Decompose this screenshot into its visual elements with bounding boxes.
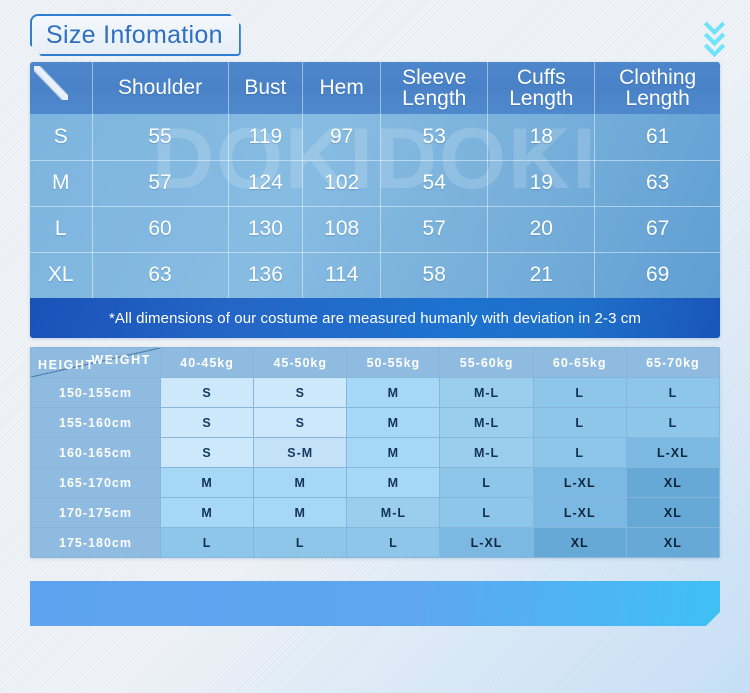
- fit-table-header-row: WEIGHT HEIGHT 40-45kg45-50kg50-55kg55-60…: [31, 348, 720, 378]
- measurement-cell: 60: [92, 206, 228, 252]
- recommended-size-cell: XL: [626, 528, 719, 558]
- page-title-badge: Size Infomation: [30, 14, 241, 56]
- recommended-size-cell: L-XL: [533, 468, 626, 498]
- recommended-size-cell: S: [161, 378, 254, 408]
- table-header-row: Shoulder Bust Hem Sleeve Length Cuffs Le…: [30, 62, 720, 114]
- measurement-cell: 130: [228, 206, 303, 252]
- column-header-hem: Hem: [303, 62, 381, 114]
- column-header-clothing-line1: Clothing: [619, 66, 696, 89]
- column-header-shoulder: Shoulder: [92, 62, 228, 114]
- recommended-size-cell: L: [440, 468, 533, 498]
- height-row-header: 150-155cm: [31, 378, 161, 408]
- size-label-cell: S: [30, 114, 92, 160]
- column-header-cuffs-line1: Cuffs: [517, 66, 566, 89]
- size-label-cell: XL: [30, 252, 92, 298]
- table-row: S5511997531861: [30, 114, 720, 160]
- weight-column-header: 60-65kg: [533, 348, 626, 378]
- recommended-size-cell: L: [440, 498, 533, 528]
- weight-column-header: 65-70kg: [626, 348, 719, 378]
- column-header-clothing-line2: Length: [626, 87, 690, 110]
- measurement-cell: 97: [303, 114, 381, 160]
- recommended-size-cell: M: [347, 438, 440, 468]
- recommended-size-cell: L-XL: [440, 528, 533, 558]
- weight-column-header: 50-55kg: [347, 348, 440, 378]
- measurement-cell: 20: [488, 206, 595, 252]
- measurement-cell: 19: [488, 160, 595, 206]
- measurement-cell: 57: [381, 206, 488, 252]
- recommended-size-cell: M: [347, 378, 440, 408]
- size-label-cell: M: [30, 160, 92, 206]
- chevron-down-icon: [705, 39, 722, 48]
- recommended-size-cell: XL: [626, 468, 719, 498]
- table-row: 160-165cmSS-MMM-LLL-XL: [31, 438, 720, 468]
- recommended-size-cell: M: [254, 468, 347, 498]
- recommended-size-cell: M-L: [440, 378, 533, 408]
- column-header-cuffs-length: Cuffs Length: [488, 62, 595, 114]
- recommended-size-cell: L-XL: [533, 498, 626, 528]
- recommended-size-cell: L: [533, 408, 626, 438]
- recommended-size-cell: M-L: [440, 438, 533, 468]
- size-table-panel: DOKIDOKI Shoulder Bust Hem Sleeve Length…: [30, 62, 720, 338]
- table-row: L60130108572067: [30, 206, 720, 252]
- measurement-cell: 124: [228, 160, 303, 206]
- height-row-header: 160-165cm: [31, 438, 161, 468]
- height-row-header: 155-160cm: [31, 408, 161, 438]
- column-header-bust: Bust: [228, 62, 303, 114]
- measurement-cell: 102: [303, 160, 381, 206]
- recommended-size-cell: XL: [533, 528, 626, 558]
- recommended-size-cell: M: [161, 468, 254, 498]
- fit-table-panel: WEIGHT HEIGHT 40-45kg45-50kg50-55kg55-60…: [30, 347, 720, 558]
- size-label-cell: L: [30, 206, 92, 252]
- measurement-cell: 18: [488, 114, 595, 160]
- table-row: 155-160cmSSMM-LLL: [31, 408, 720, 438]
- measurement-cell: 21: [488, 252, 595, 298]
- column-header-sleeve-line2: Length: [402, 87, 466, 110]
- measurement-cell: 136: [228, 252, 303, 298]
- measurement-cell: 67: [595, 206, 720, 252]
- recommended-size-cell: M-L: [347, 498, 440, 528]
- measurement-cell: 69: [595, 252, 720, 298]
- weight-axis-label: WEIGHT: [91, 353, 151, 367]
- recommended-size-cell: L: [254, 528, 347, 558]
- chevron-down-group: [701, 17, 725, 48]
- recommended-size-cell: M: [347, 408, 440, 438]
- table-row: 165-170cmMMMLL-XLXL: [31, 468, 720, 498]
- recommended-size-cell: L: [626, 378, 719, 408]
- measurement-cell: 61: [595, 114, 720, 160]
- recommended-size-cell: XL: [626, 498, 719, 528]
- recommended-size-cell: S: [161, 438, 254, 468]
- table-row: XL63136114582169: [30, 252, 720, 298]
- bottom-accent-bar: [30, 581, 720, 626]
- column-header-cuffs-line2: Length: [509, 87, 573, 110]
- recommended-size-cell: M: [347, 468, 440, 498]
- measurement-cell: 63: [92, 252, 228, 298]
- weight-column-header: 40-45kg: [161, 348, 254, 378]
- diagonal-slash-icon: [34, 66, 68, 100]
- corner-cell: [30, 62, 92, 114]
- measurement-cell: 108: [303, 206, 381, 252]
- height-row-header: 170-175cm: [31, 498, 161, 528]
- height-row-header: 175-180cm: [31, 528, 161, 558]
- recommended-size-cell: M: [254, 498, 347, 528]
- measurement-cell: 55: [92, 114, 228, 160]
- table-row: 170-175cmMMM-LLL-XLXL: [31, 498, 720, 528]
- height-weight-corner-cell: WEIGHT HEIGHT: [31, 348, 161, 378]
- recommended-size-cell: S: [161, 408, 254, 438]
- measurement-cell: 114: [303, 252, 381, 298]
- page-title: Size Infomation: [46, 21, 223, 50]
- table-row: M57124102541963: [30, 160, 720, 206]
- table-row: 175-180cmLLLL-XLXLXL: [31, 528, 720, 558]
- recommended-size-cell: L: [533, 378, 626, 408]
- height-axis-label: HEIGHT: [38, 358, 95, 372]
- column-header-sleeve-line1: Sleeve: [402, 66, 466, 89]
- weight-column-header: 55-60kg: [440, 348, 533, 378]
- weight-column-header: 45-50kg: [254, 348, 347, 378]
- measurement-cell: 119: [228, 114, 303, 160]
- recommended-size-cell: M: [161, 498, 254, 528]
- recommended-size-cell: S-M: [254, 438, 347, 468]
- measurement-cell: 53: [381, 114, 488, 160]
- table-row: 150-155cmSSMM-LLL: [31, 378, 720, 408]
- size-measurements-table: Shoulder Bust Hem Sleeve Length Cuffs Le…: [30, 62, 720, 298]
- column-header-clothing-length: Clothing Length: [595, 62, 720, 114]
- measurement-cell: 63: [595, 160, 720, 206]
- measurement-note: *All dimensions of our costume are measu…: [30, 298, 720, 338]
- measurement-cell: 58: [381, 252, 488, 298]
- measurement-cell: 57: [92, 160, 228, 206]
- recommended-size-cell: L-XL: [626, 438, 719, 468]
- recommended-size-cell: L: [533, 438, 626, 468]
- recommended-size-cell: L: [626, 408, 719, 438]
- height-weight-size-table: WEIGHT HEIGHT 40-45kg45-50kg50-55kg55-60…: [30, 347, 720, 558]
- recommended-size-cell: S: [254, 378, 347, 408]
- recommended-size-cell: L: [347, 528, 440, 558]
- measurement-cell: 54: [381, 160, 488, 206]
- recommended-size-cell: S: [254, 408, 347, 438]
- height-row-header: 165-170cm: [31, 468, 161, 498]
- column-header-sleeve-length: Sleeve Length: [381, 62, 488, 114]
- recommended-size-cell: M-L: [440, 408, 533, 438]
- recommended-size-cell: L: [161, 528, 254, 558]
